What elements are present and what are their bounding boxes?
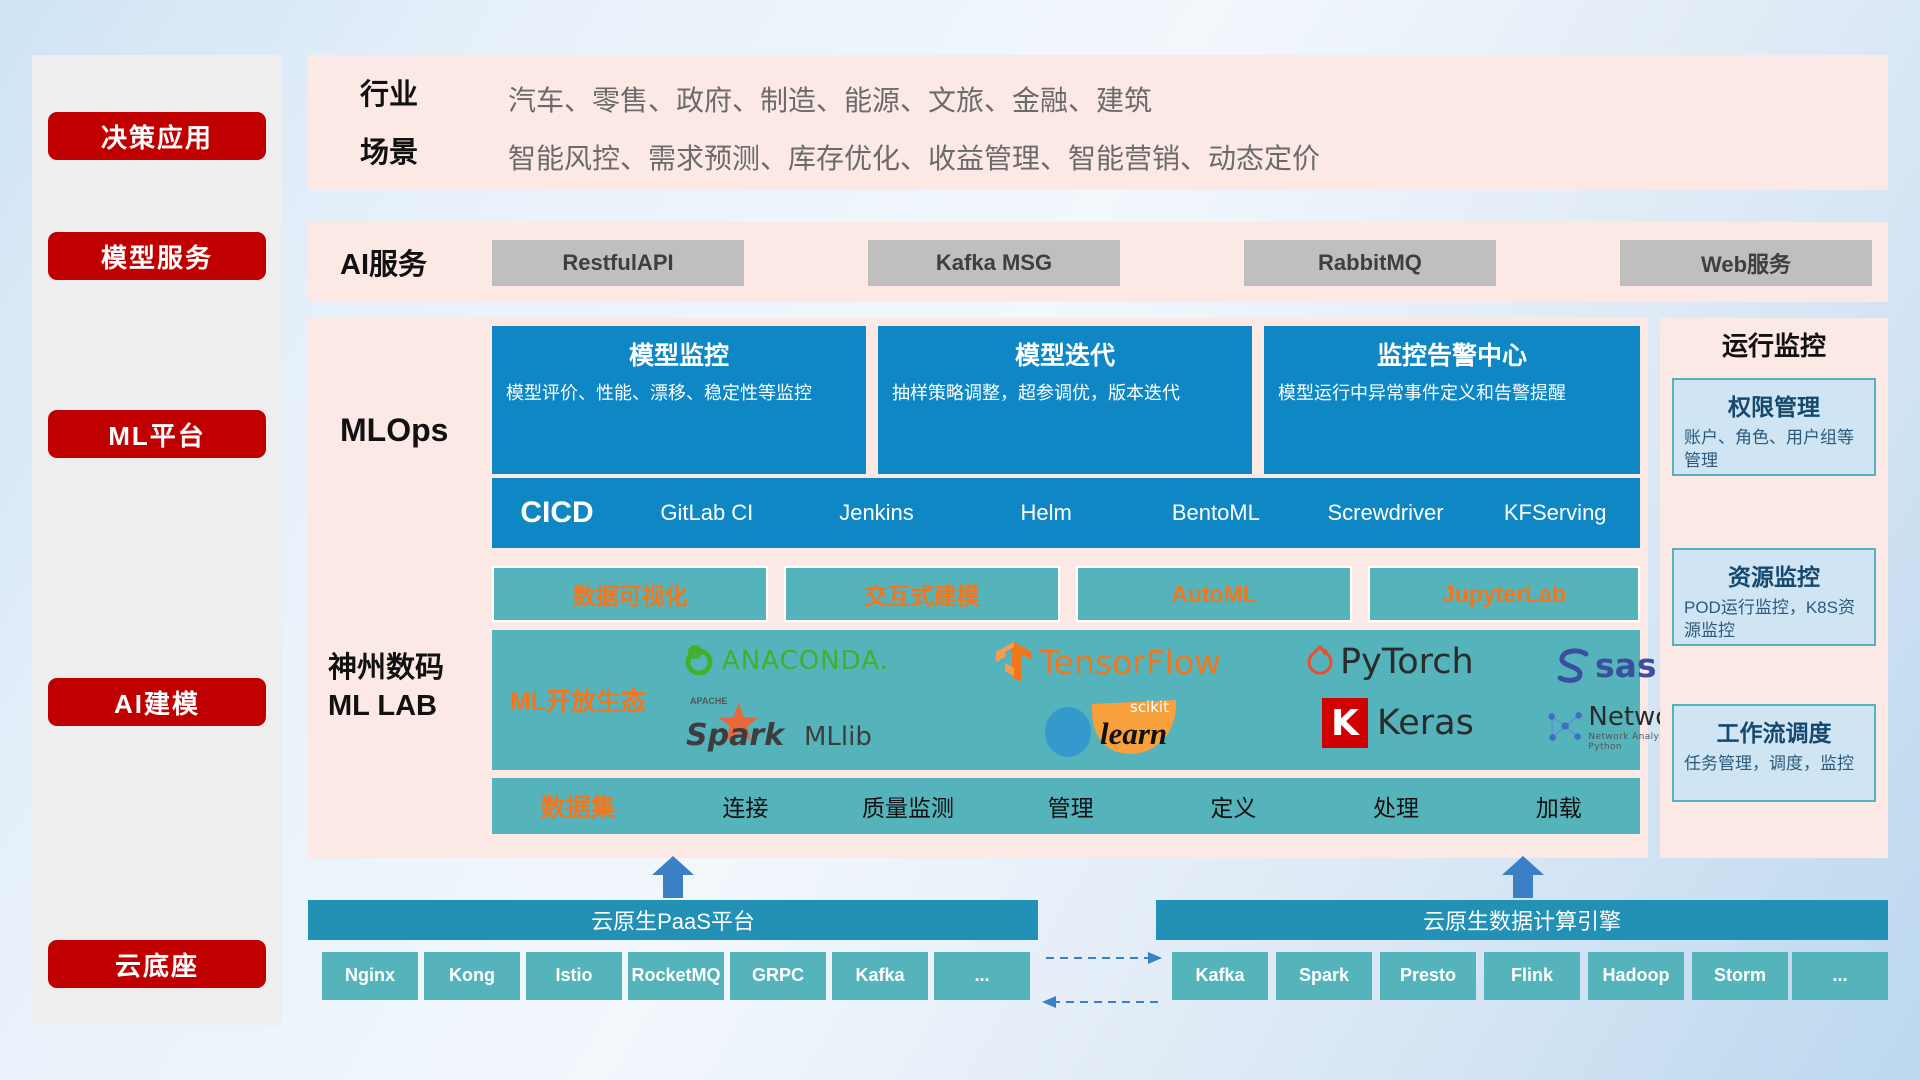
industry-label: 行业 bbox=[360, 78, 418, 112]
dataset-item-load[interactable]: 加载 bbox=[1477, 789, 1640, 823]
chip-label: 交互式建模 bbox=[865, 577, 980, 611]
chip-label: Presto bbox=[1400, 966, 1456, 986]
stage-pill-ml-platform[interactable]: ML平台 bbox=[48, 410, 266, 458]
runtime-monitor-title: 运行监控 bbox=[1660, 326, 1888, 363]
chip-label: Web服务 bbox=[1701, 247, 1791, 279]
ml-ecosystem-box: ML开放生态 ANACONDA. APACHE Spark MLlib bbox=[492, 630, 1640, 770]
ml-lab-label-line2: ML LAB bbox=[328, 688, 444, 726]
paas-chip-nginx[interactable]: Nginx bbox=[322, 952, 418, 1000]
engine-chip-storm[interactable]: Storm bbox=[1692, 952, 1788, 1000]
chip-label: Kong bbox=[449, 966, 495, 986]
paas-chip-kong[interactable]: Kong bbox=[424, 952, 520, 1000]
chip-label: JupyterLab bbox=[1442, 581, 1566, 608]
spark-mllib-logo: APACHE Spark MLlib bbox=[686, 700, 782, 758]
card-title: 模型迭代 bbox=[892, 336, 1238, 372]
chip-label: Spark bbox=[1299, 966, 1349, 986]
paas-platform-bar[interactable]: 云原生PaaS平台 bbox=[308, 900, 1038, 940]
chip-label: Flink bbox=[1511, 966, 1553, 986]
chip-label: Kafka bbox=[855, 966, 904, 986]
cicd-title: CICD bbox=[492, 496, 622, 530]
cicd-bar: CICD GitLab CI Jenkins Helm BentoML Scre… bbox=[492, 478, 1640, 548]
paas-chip-kafka[interactable]: Kafka bbox=[832, 952, 928, 1000]
lab-chip-jupyterlab[interactable]: JupyterLab bbox=[1368, 566, 1640, 622]
bar-label: 云原生PaaS平台 bbox=[591, 904, 755, 936]
runtime-card-permission[interactable]: 权限管理 账户、角色、用户组等管理 bbox=[1672, 378, 1876, 476]
card-desc: 任务管理，调度，监控 bbox=[1684, 753, 1864, 776]
dataset-item-process[interactable]: 处理 bbox=[1315, 789, 1478, 823]
chip-label: 数据可视化 bbox=[573, 577, 688, 611]
chip-label: Kafka MSG bbox=[936, 250, 1052, 276]
dataset-item-manage[interactable]: 管理 bbox=[989, 789, 1152, 823]
anaconda-icon bbox=[682, 644, 716, 678]
lab-chip-interactive-modeling[interactable]: 交互式建模 bbox=[784, 566, 1060, 622]
engine-chip-kafka[interactable]: Kafka bbox=[1172, 952, 1268, 1000]
dataset-title: 数据集 bbox=[492, 788, 664, 824]
pytorch-logo: PyTorch bbox=[1304, 642, 1474, 682]
cicd-item-helm[interactable]: Helm bbox=[961, 501, 1131, 524]
paas-chip-more[interactable]: ... bbox=[934, 952, 1030, 1000]
mllib-wordmark: MLlib bbox=[804, 722, 872, 752]
cicd-item-kfserving[interactable]: KFServing bbox=[1470, 501, 1640, 524]
pytorch-icon bbox=[1304, 643, 1336, 681]
chip-label: RestfulAPI bbox=[562, 250, 673, 276]
sas-icon bbox=[1554, 648, 1594, 684]
chip-label: GRPC bbox=[752, 966, 804, 986]
spark-wordmark: Spark bbox=[686, 718, 784, 753]
engine-chip-presto[interactable]: Presto bbox=[1380, 952, 1476, 1000]
learn-wordmark: learn bbox=[1100, 716, 1167, 752]
bar-label: 云原生数据计算引擎 bbox=[1423, 904, 1621, 936]
stage-label: 决策应用 bbox=[101, 118, 213, 155]
keras-logo: K Keras bbox=[1322, 698, 1474, 748]
ai-service-chip-kafka-msg[interactable]: Kafka MSG bbox=[868, 240, 1120, 286]
ml-lab-label-line1: 神州数码 bbox=[328, 650, 444, 688]
stage-label: 云底座 bbox=[115, 946, 199, 983]
engine-chip-more[interactable]: ... bbox=[1792, 952, 1888, 1000]
ml-ecosystem-title: ML开放生态 bbox=[492, 682, 664, 718]
chip-label: ... bbox=[974, 966, 989, 986]
scikit-sup: scikit bbox=[1130, 698, 1169, 716]
runtime-card-workflow[interactable]: 工作流调度 任务管理，调度，监控 bbox=[1672, 704, 1876, 802]
ai-services-label: AI服务 bbox=[340, 248, 427, 282]
dataset-item-quality[interactable]: 质量监测 bbox=[827, 789, 990, 823]
tensorflow-logo: TensorFlow bbox=[994, 640, 1221, 684]
anaconda-logo: ANACONDA. bbox=[682, 644, 889, 678]
runtime-card-resource[interactable]: 资源监控 POD运行监控，K8S资源监控 bbox=[1672, 548, 1876, 646]
card-desc: POD运行监控，K8S资源监控 bbox=[1684, 597, 1864, 643]
chip-label: Hadoop bbox=[1603, 966, 1670, 986]
sas-logo: sas bbox=[1554, 646, 1657, 685]
scenario-label: 场景 bbox=[360, 136, 418, 170]
scikit-learn-logo: scikit learn bbox=[1042, 696, 1112, 758]
keras-wordmark: Keras bbox=[1377, 703, 1474, 743]
mlops-label: MLOps bbox=[340, 412, 448, 450]
keras-icon: K bbox=[1322, 698, 1368, 748]
mlops-card-model-monitoring[interactable]: 模型监控 模型评价、性能、漂移、稳定性等监控 bbox=[492, 326, 866, 474]
card-title: 权限管理 bbox=[1684, 388, 1864, 422]
cicd-item-screwdriver[interactable]: Screwdriver bbox=[1301, 501, 1471, 524]
chip-label: ... bbox=[1832, 966, 1847, 986]
card-title: 工作流调度 bbox=[1684, 714, 1864, 748]
paas-chip-istio[interactable]: Istio bbox=[526, 952, 622, 1000]
ai-service-chip-web-service[interactable]: Web服务 bbox=[1620, 240, 1872, 286]
card-title: 资源监控 bbox=[1684, 558, 1864, 592]
card-desc: 模型运行中异常事件定义和告警提醒 bbox=[1278, 381, 1626, 405]
data-compute-engine-bar[interactable]: 云原生数据计算引擎 bbox=[1156, 900, 1888, 940]
card-desc: 抽样策略调整，超参调优，版本迭代 bbox=[892, 381, 1238, 405]
stage-label: 模型服务 bbox=[101, 238, 213, 275]
industry-value: 汽车、零售、政府、制造、能源、文旅、金融、建筑 bbox=[508, 79, 1152, 119]
engine-chip-flink[interactable]: Flink bbox=[1484, 952, 1580, 1000]
ml-lab-label: 神州数码 ML LAB bbox=[328, 650, 444, 725]
ai-service-chip-rabbitmq[interactable]: RabbitMQ bbox=[1244, 240, 1496, 286]
cicd-item-bentoml[interactable]: BentoML bbox=[1131, 501, 1301, 524]
stage-pill-ai-modeling[interactable]: AI建模 bbox=[48, 678, 266, 726]
lab-chip-automl[interactable]: AutoML bbox=[1076, 566, 1352, 622]
chip-label: Istio bbox=[555, 966, 592, 986]
bidirectional-dashed-connector-icon bbox=[1040, 940, 1164, 1020]
sas-wordmark: sas bbox=[1595, 646, 1657, 685]
networkx-icon bbox=[1544, 706, 1584, 748]
dataset-item-connect[interactable]: 连接 bbox=[664, 789, 827, 823]
engine-chip-spark[interactable]: Spark bbox=[1276, 952, 1372, 1000]
scenario-value: 智能风控、需求预测、库存优化、收益管理、智能营销、动态定价 bbox=[508, 137, 1320, 177]
cicd-item-jenkins[interactable]: Jenkins bbox=[792, 501, 962, 524]
pytorch-wordmark: PyTorch bbox=[1340, 642, 1474, 682]
stage-label: AI建模 bbox=[114, 684, 200, 721]
stage-pill-decision-app[interactable]: 决策应用 bbox=[48, 112, 266, 160]
tensorflow-wordmark: TensorFlow bbox=[1039, 643, 1221, 682]
tensorflow-icon bbox=[994, 640, 1034, 684]
dataset-item-define[interactable]: 定义 bbox=[1152, 789, 1315, 823]
spark-apache-sup: APACHE bbox=[690, 696, 727, 706]
lab-chip-data-visualization[interactable]: 数据可视化 bbox=[492, 566, 768, 622]
up-arrow-data-engine-icon bbox=[1500, 856, 1546, 898]
card-desc: 账户、角色、用户组等管理 bbox=[1684, 427, 1864, 473]
chip-label: RabbitMQ bbox=[1318, 250, 1422, 276]
architecture-diagram: 决策应用 模型服务 ML平台 AI建模 云底座 行业 汽车、零售、政府、制造、能… bbox=[0, 0, 1920, 1080]
paas-chip-grpc[interactable]: GRPC bbox=[730, 952, 826, 1000]
stage-pill-cloud-base[interactable]: 云底座 bbox=[48, 940, 266, 988]
anaconda-wordmark: ANACONDA. bbox=[722, 646, 889, 676]
chip-label: Storm bbox=[1714, 966, 1766, 986]
stage-rail bbox=[32, 55, 282, 1025]
card-title: 监控告警中心 bbox=[1278, 336, 1626, 372]
ai-service-chip-restfulapi[interactable]: RestfulAPI bbox=[492, 240, 744, 286]
dataset-bar: 数据集 连接 质量监测 管理 定义 处理 加载 bbox=[492, 778, 1640, 834]
stage-pill-model-service[interactable]: 模型服务 bbox=[48, 232, 266, 280]
chip-label: Kafka bbox=[1195, 966, 1244, 986]
up-arrow-paas-icon bbox=[650, 856, 696, 898]
paas-chip-rocketmq[interactable]: RocketMQ bbox=[628, 952, 724, 1000]
card-title: 模型监控 bbox=[506, 336, 852, 372]
chip-label: AutoML bbox=[1171, 581, 1257, 608]
ml-ecosystem-logos: ANACONDA. APACHE Spark MLlib TensorFlow bbox=[664, 630, 1640, 770]
mlops-card-model-iteration[interactable]: 模型迭代 抽样策略调整，超参调优，版本迭代 bbox=[878, 326, 1252, 474]
card-desc: 模型评价、性能、漂移、稳定性等监控 bbox=[506, 381, 852, 405]
stage-label: ML平台 bbox=[108, 416, 206, 453]
chip-label: RocketMQ bbox=[631, 966, 720, 986]
engine-chip-hadoop[interactable]: Hadoop bbox=[1588, 952, 1684, 1000]
cicd-item-gitlab-ci[interactable]: GitLab CI bbox=[622, 501, 792, 524]
mlops-card-alert-center[interactable]: 监控告警中心 模型运行中异常事件定义和告警提醒 bbox=[1264, 326, 1640, 474]
chip-label: Nginx bbox=[345, 966, 395, 986]
